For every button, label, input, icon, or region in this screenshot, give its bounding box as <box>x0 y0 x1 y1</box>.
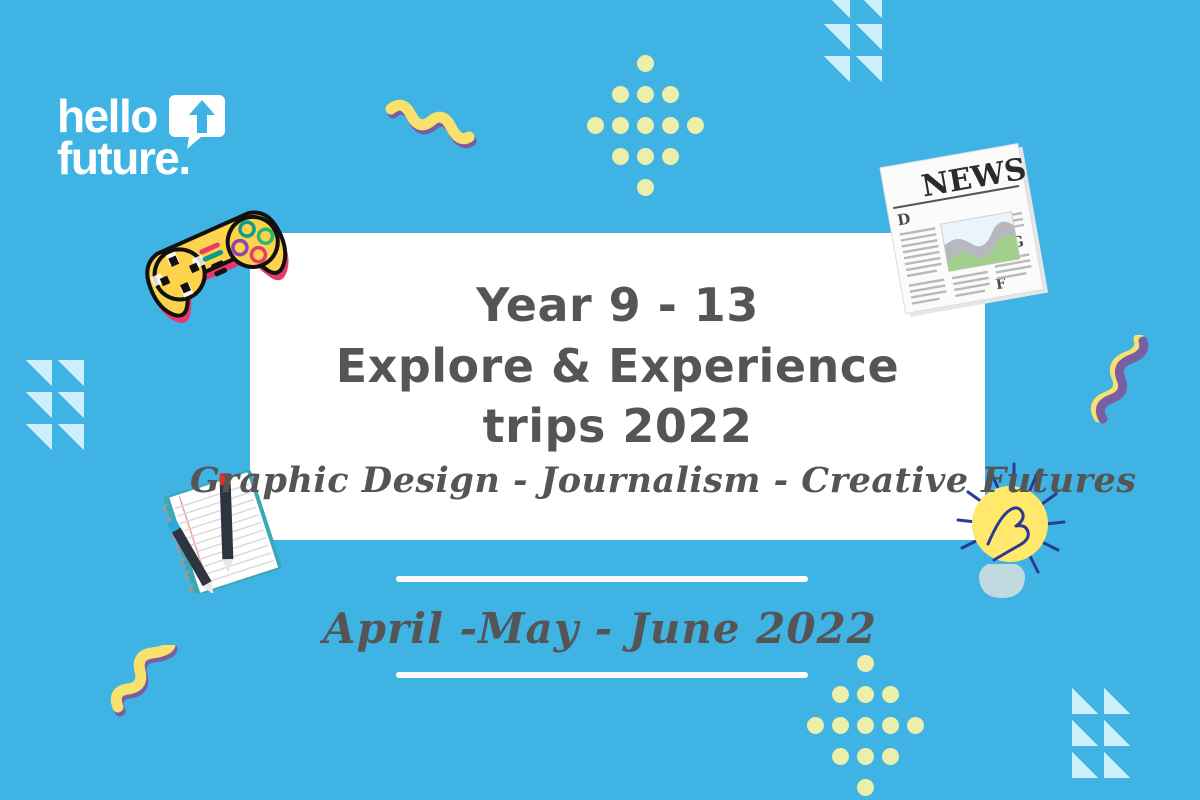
divider-rule-bottom <box>396 672 808 678</box>
wavy-squiggle-bottom-left <box>110 645 200 730</box>
triangle-grid-pattern-left <box>26 360 106 450</box>
brand-logo: hello future. <box>55 95 285 200</box>
poster-headline: Year 9 - 13 Explore & Experience trips 2… <box>250 275 985 457</box>
divider-rule-top <box>396 576 808 582</box>
poster-date-line: April -May - June 2022 <box>300 604 900 653</box>
poster-subtitle: Graphic Design - Journalism - Creative F… <box>190 460 1050 501</box>
triangle-grid-pattern-bottom-right <box>1072 688 1152 778</box>
speech-bubble-arrow-icon <box>167 91 227 151</box>
dot-diamond-pattern-bottom <box>808 655 928 770</box>
headline-line-2: Explore & Experience <box>250 336 985 397</box>
wavy-squiggle-top <box>385 95 480 185</box>
triangle-grid-pattern-top-right <box>824 0 904 82</box>
poster-canvas: hello future. <box>0 0 1200 800</box>
wavy-squiggle-right <box>1085 335 1170 430</box>
headline-line-3: trips 2022 <box>250 396 985 457</box>
headline-line-1: Year 9 - 13 <box>250 275 985 336</box>
dot-diamond-pattern-top <box>588 55 708 170</box>
